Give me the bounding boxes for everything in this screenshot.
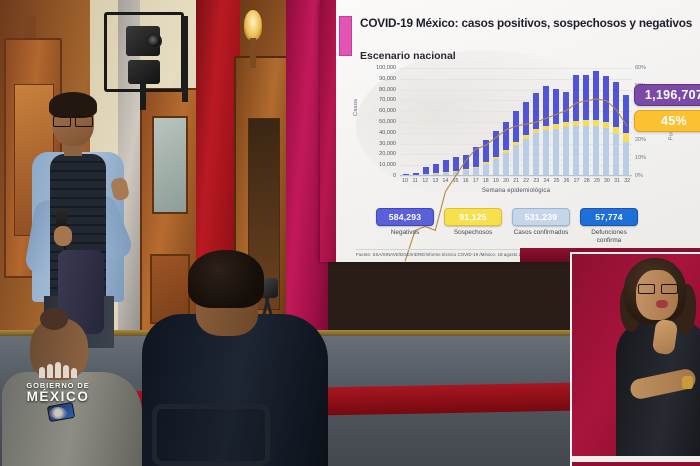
- y-tick-primary: 50,000: [379, 119, 396, 125]
- y-tick-primary: 100,000: [376, 65, 396, 71]
- y-tick-primary: 70,000: [379, 97, 396, 103]
- studio-light-icon: [128, 60, 160, 84]
- x-tick: 29: [592, 178, 602, 184]
- x-tick: 27: [572, 178, 582, 184]
- logo-line-2: MÉXICO: [6, 390, 110, 405]
- slide-content: COVID-19 México: casos positivos, sospec…: [336, 0, 700, 262]
- logo-figures-icon: [6, 362, 110, 378]
- stat-value: 57,774: [580, 208, 638, 226]
- x-axis-ticks: 1011121314151617181920212223242526272829…: [400, 178, 632, 184]
- y-axis-label-primary: Casos: [353, 99, 359, 116]
- y-axis-ticks-primary: 100,00090,00080,00070,00060,00050,00040,…: [362, 68, 396, 176]
- presenter-hand-holding-mic: [54, 226, 72, 246]
- cabinet-finial: [24, 14, 36, 40]
- x-tick: 30: [602, 178, 612, 184]
- x-tick: 28: [582, 178, 592, 184]
- x-tick: 18: [481, 178, 491, 184]
- y-tick-secondary: 20%: [635, 137, 646, 143]
- x-tick: 15: [450, 178, 460, 184]
- x-tick: 23: [531, 178, 541, 184]
- x-tick: 25: [551, 178, 561, 184]
- slide-subtitle: Escenario nacional: [360, 50, 456, 62]
- y-tick-primary: 40,000: [379, 130, 396, 136]
- interpreter-mouth: [656, 300, 668, 308]
- x-tick: 31: [612, 178, 622, 184]
- y-tick-secondary: 0%: [635, 173, 643, 179]
- inset-bottom-accent: [572, 462, 700, 466]
- x-tick: 32: [622, 178, 632, 184]
- y-tick-secondary: 10%: [635, 155, 646, 161]
- sign-language-interpreter-inset: [570, 252, 700, 466]
- stat-value: 91,125: [444, 208, 502, 226]
- y-tick-primary: 30,000: [379, 141, 396, 147]
- audience-hair: [188, 250, 264, 308]
- stat-caption: Casos confirmados: [512, 229, 570, 237]
- journalist-hair-bun: [40, 308, 68, 330]
- national-seal-icon: [49, 407, 67, 419]
- x-tick: 17: [471, 178, 481, 184]
- callout-total-estudiados: 1,196,707: [634, 84, 700, 106]
- x-tick: 24: [541, 178, 551, 184]
- y-tick-primary: 90,000: [379, 76, 396, 82]
- y-tick-primary: 60,000: [379, 108, 396, 114]
- callout-positividad: 45%: [634, 110, 700, 132]
- glasses-icon: [52, 116, 94, 125]
- callout-group: 1,196,70745%: [634, 84, 700, 136]
- covid-chart: Casos Positividad 100,00090,00080,00070,…: [354, 68, 654, 198]
- presenter-hair: [49, 92, 97, 118]
- stat-value: 584,293: [376, 208, 434, 226]
- y-tick-primary: 0: [393, 173, 396, 179]
- stat-pill-group: 584,293Negativos91,125Sospechosos531,239…: [376, 208, 690, 245]
- x-tick: 21: [511, 178, 521, 184]
- y-tick-primary: 80,000: [379, 87, 396, 93]
- glasses-icon: [638, 284, 678, 292]
- x-tick: 26: [562, 178, 572, 184]
- x-tick: 19: [491, 178, 501, 184]
- y-tick-primary: 10,000: [379, 162, 396, 168]
- plot-area: [400, 68, 632, 176]
- camera-lens-icon: [146, 33, 162, 49]
- x-tick: 22: [521, 178, 531, 184]
- x-axis-label: Semana epidemiológica: [400, 188, 632, 194]
- lamp-icon: [244, 10, 262, 40]
- slide-accent-tab: [339, 16, 352, 56]
- stat-negativos: 584,293Negativos: [376, 208, 434, 245]
- stat-caption: Negativos: [376, 229, 434, 237]
- slide-left-border: [320, 0, 336, 262]
- y-tick-secondary: 60%: [635, 65, 646, 71]
- x-tick: 20: [501, 178, 511, 184]
- stat-caption: Defunciones confirma: [580, 229, 638, 245]
- projection-screen: COVID-19 México: casos positivos, sospec…: [320, 0, 700, 262]
- lamp-stand: [250, 38, 256, 68]
- x-tick: 13: [430, 178, 440, 184]
- door-glass-pane: [152, 116, 188, 214]
- broadcast-frame: GOBIERNO DE MÉXICO COVID-19 México: caso…: [0, 0, 700, 466]
- stat-value: 531,239: [512, 208, 570, 226]
- x-tick: 14: [440, 178, 450, 184]
- audience-chair: [152, 404, 270, 466]
- stat-caption: Sospechosos: [444, 229, 502, 237]
- x-tick: 16: [461, 178, 471, 184]
- wristwatch-icon: [682, 376, 693, 389]
- light-rig-arm: [182, 16, 188, 102]
- stat-defunciones-confirmadas: 57,774Defunciones confirma: [580, 208, 638, 245]
- stat-sospechosos: 91,125Sospechosos: [444, 208, 502, 245]
- stat-casos-confirmados: 531,239Casos confirmados: [512, 208, 570, 245]
- y-tick-primary: 20,000: [379, 151, 396, 157]
- gobierno-de-mexico-logo: GOBIERNO DE MÉXICO: [6, 362, 110, 420]
- x-tick: 10: [400, 178, 410, 184]
- interpreter-head: [636, 270, 678, 320]
- slide-title: COVID-19 México: casos positivos, sospec…: [360, 16, 690, 30]
- x-tick: 12: [420, 178, 430, 184]
- x-tick: 11: [410, 178, 420, 184]
